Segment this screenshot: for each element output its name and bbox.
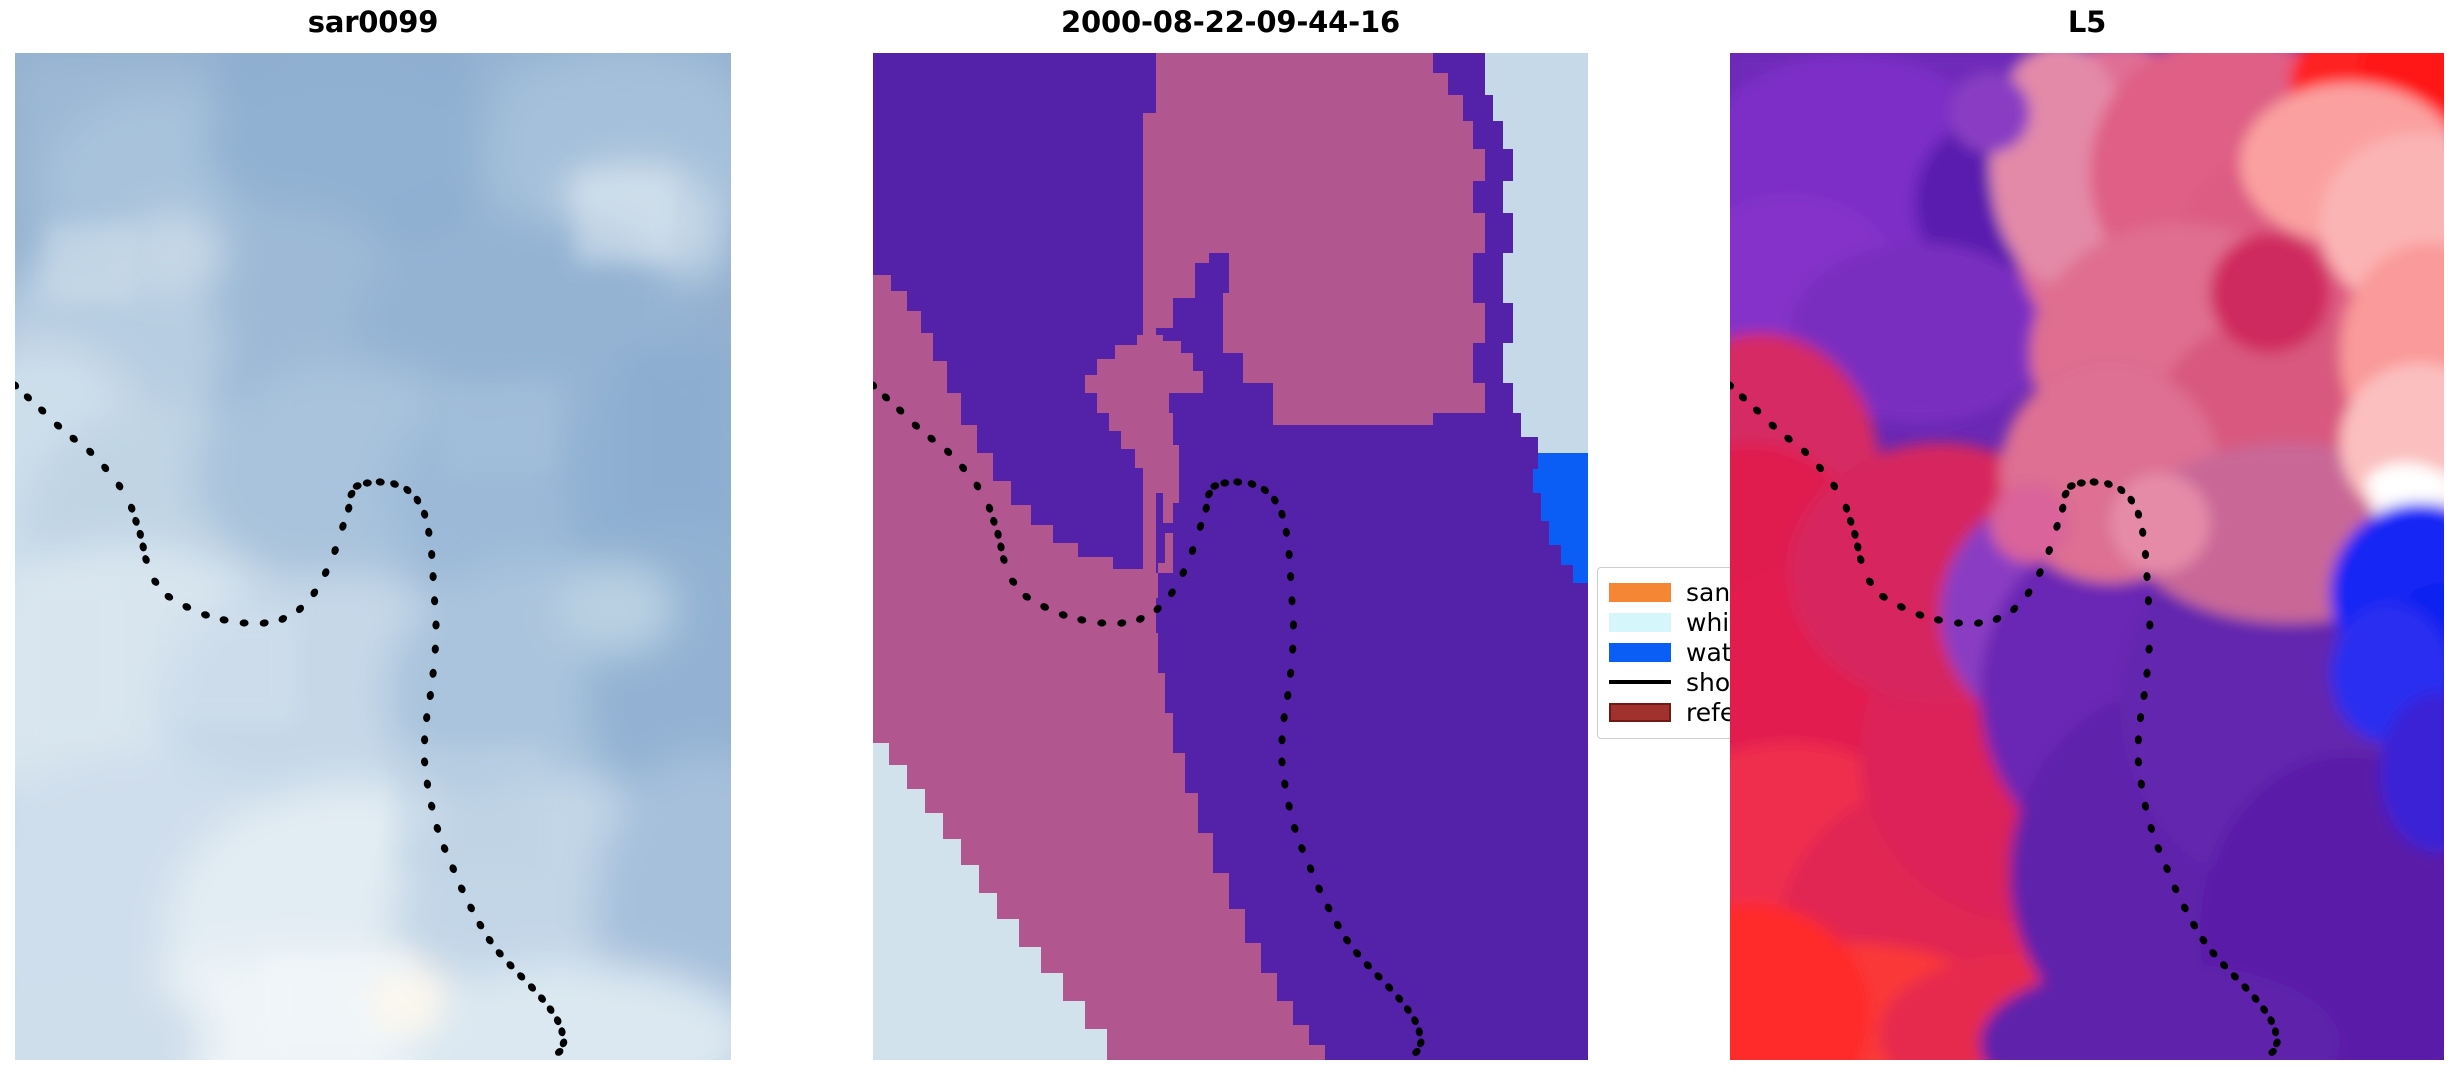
sar-panel[interactable] (15, 53, 731, 1060)
water-swatch (1609, 643, 1671, 662)
panel-title-classified: 2000-08-22-09-44-16 (873, 8, 1588, 37)
classified-shoreline-overlay (873, 53, 1588, 1060)
l5-panel[interactable] (1730, 53, 2444, 1060)
sand-swatch (1609, 583, 1671, 602)
reference-shoreline-swatch (1609, 703, 1671, 722)
panel-title-sar: sar0099 (15, 8, 731, 37)
whitewater-swatch (1609, 613, 1671, 632)
shoreline-line-marker (1609, 673, 1671, 692)
l5-shoreline-overlay (1730, 53, 2444, 1060)
figure-canvas: sar0099 (0, 0, 2460, 1075)
sar-shoreline-overlay (15, 53, 731, 1060)
classified-panel[interactable] (873, 53, 1588, 1060)
panel-title-l5: L5 (1730, 8, 2444, 37)
